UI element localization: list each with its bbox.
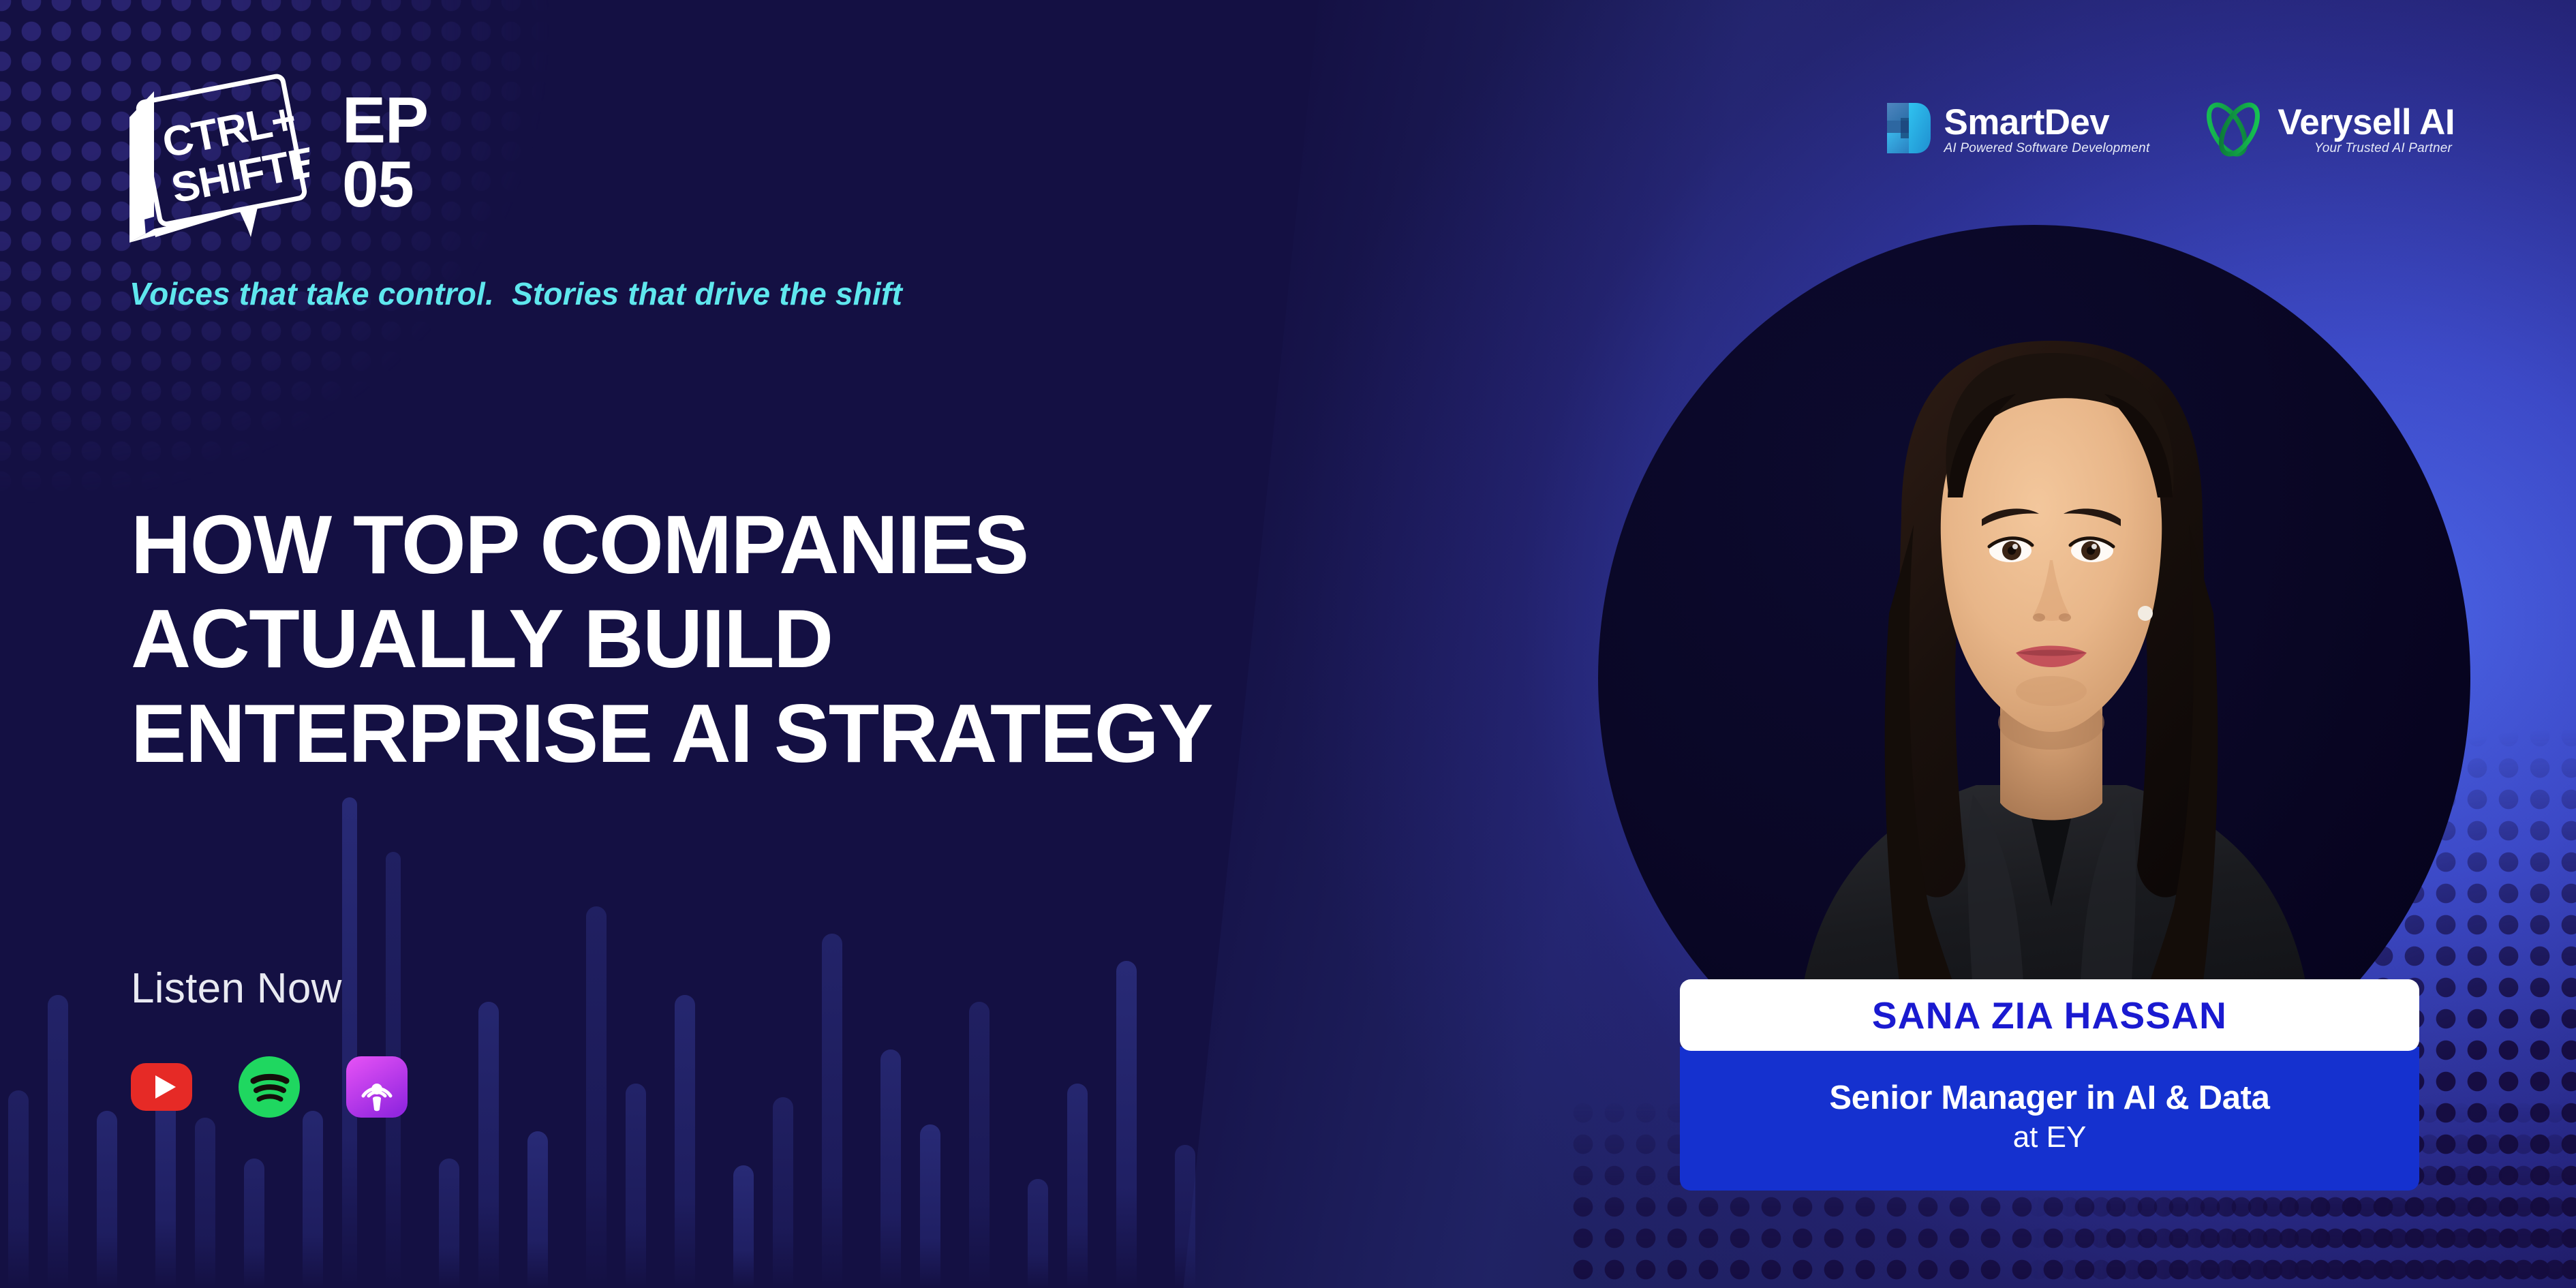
guest-company: at EY bbox=[1696, 1120, 2403, 1155]
partner-verysell: Verysell AI Your Trusted AI Partner bbox=[2200, 94, 2455, 166]
episode-title: HOW TOP COMPANIES ACTUALLY BUILD ENTERPR… bbox=[131, 497, 1535, 780]
verysell-name: Verysell AI bbox=[2278, 104, 2455, 141]
episode-prefix: EP bbox=[342, 89, 428, 153]
ctrl-shifter-speech-bubble-logo: CTRL+ SHIFTER bbox=[124, 74, 309, 251]
waveform-bar bbox=[626, 1084, 646, 1288]
guest-name-card: SANA ZIA HASSAN Senior Manager in AI & D… bbox=[1680, 979, 2419, 1191]
guest-name-banner: SANA ZIA HASSAN bbox=[1680, 979, 2419, 1051]
show-branding: CTRL+ SHIFTER EP 05 bbox=[124, 74, 428, 251]
episode-number: 05 bbox=[342, 153, 428, 217]
partner-smartdev: SmartDev AI Powered Software Development bbox=[1882, 100, 2150, 159]
waveform-bar bbox=[920, 1124, 940, 1288]
partner-logos: SmartDev AI Powered Software Development bbox=[1882, 94, 2455, 166]
verysell-tagline: Your Trusted AI Partner bbox=[2278, 141, 2455, 157]
waveform-bar bbox=[1067, 1084, 1088, 1288]
podcast-episode-poster: CTRL+ SHIFTER EP 05 Voices that take con… bbox=[0, 0, 2576, 1288]
spotify-icon[interactable] bbox=[239, 1056, 300, 1118]
guest-role: Senior Manager in AI & Data bbox=[1696, 1079, 2403, 1117]
episode-badge: EP 05 bbox=[342, 74, 428, 217]
waveform-bar bbox=[48, 995, 68, 1288]
waveform-bar bbox=[675, 995, 695, 1288]
smartdev-tagline: AI Powered Software Development bbox=[1944, 141, 2150, 157]
waveform-bar bbox=[1116, 961, 1137, 1288]
waveform-bar bbox=[478, 1002, 499, 1288]
apple-podcasts-icon[interactable] bbox=[346, 1056, 408, 1118]
waveform-bar bbox=[303, 1111, 323, 1288]
smartdev-d-mark bbox=[1882, 100, 1932, 159]
verysell-infinity-leaf-mark bbox=[2200, 94, 2265, 166]
waveform-bar bbox=[97, 1111, 117, 1288]
waveform-bar bbox=[8, 1090, 29, 1288]
waveform-bar bbox=[527, 1131, 548, 1288]
audio-waveform-decoration bbox=[0, 770, 1199, 1288]
guest-name: SANA ZIA HASSAN bbox=[1872, 994, 2227, 1037]
smartdev-name: SmartDev bbox=[1944, 104, 2150, 141]
guest-portrait-photo bbox=[1731, 293, 2372, 1049]
waveform-bar bbox=[586, 906, 607, 1288]
episode-title-line-3: ENTERPRISE AI STRATEGY bbox=[131, 686, 1535, 780]
guest-role-banner: Senior Manager in AI & Data at EY bbox=[1680, 1047, 2419, 1191]
waveform-bar bbox=[1028, 1179, 1048, 1288]
youtube-icon[interactable] bbox=[131, 1056, 192, 1118]
waveform-bar bbox=[439, 1159, 459, 1288]
episode-title-line-1: HOW TOP COMPANIES bbox=[131, 497, 1535, 592]
episode-title-line-2: ACTUALLY BUILD bbox=[131, 592, 1535, 686]
waveform-bar bbox=[733, 1165, 754, 1288]
waveform-bar bbox=[773, 1097, 793, 1288]
waveform-bar bbox=[822, 934, 842, 1288]
show-tagline: Voices that take control. Stories that d… bbox=[129, 275, 902, 312]
waveform-bar bbox=[195, 1118, 215, 1288]
waveform-bar bbox=[880, 1049, 901, 1288]
waveform-bar bbox=[342, 797, 357, 1288]
waveform-bar bbox=[244, 1159, 264, 1288]
waveform-bar bbox=[969, 1002, 990, 1288]
waveform-bar bbox=[1175, 1145, 1195, 1288]
listen-platform-links bbox=[131, 1056, 408, 1118]
listen-now-label: Listen Now bbox=[131, 964, 342, 1013]
